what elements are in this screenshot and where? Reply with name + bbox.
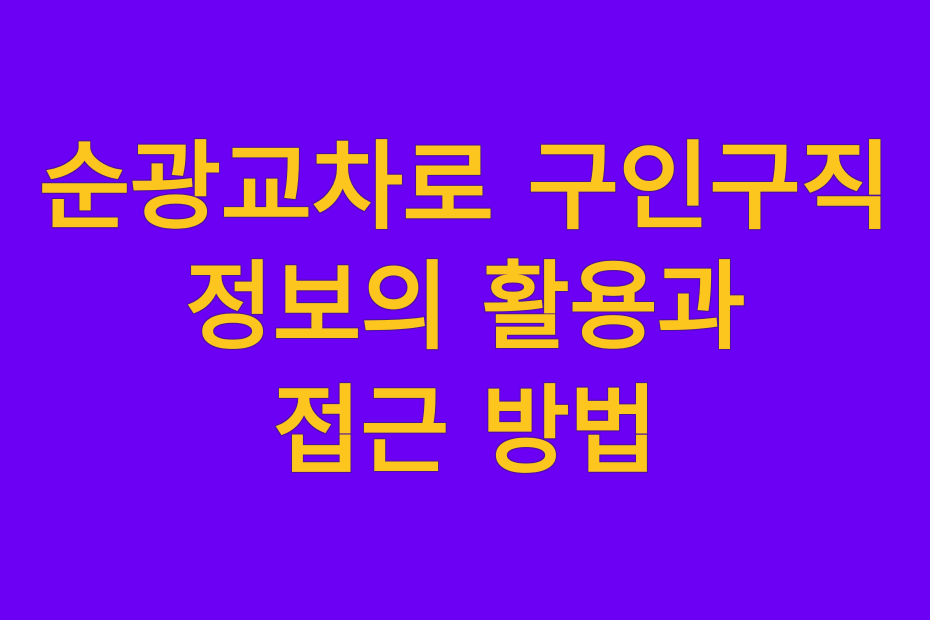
headline-line-2: 정보의 활용과 xyxy=(0,259,930,377)
headline-block: 순광교차로 구인구직 정보의 활용과 접근 방법 xyxy=(0,139,930,493)
headline-line-3: 접근 방법 xyxy=(0,383,930,493)
headline-line-1: 순광교차로 구인구직 xyxy=(0,139,930,251)
poster-canvas: 순광교차로 구인구직 정보의 활용과 접근 방법 xyxy=(0,0,930,620)
